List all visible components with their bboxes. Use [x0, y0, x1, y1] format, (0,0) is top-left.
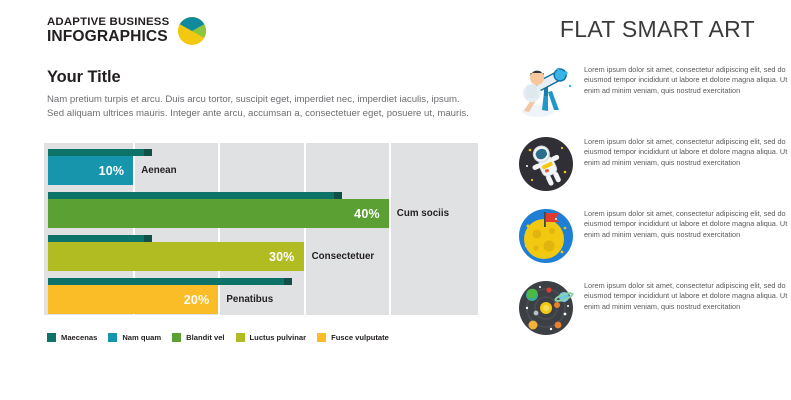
bar-track-cap — [144, 149, 152, 156]
legend-item[interactable]: Luctus pulvinar — [236, 333, 307, 342]
bar-category-label: Aenean — [133, 156, 176, 185]
bar-track-cap — [284, 278, 292, 285]
left-content-panel: ADAPTIVE BUSINESS INFOGRAPHICS Your Titl… — [0, 0, 500, 400]
solar-system-icon — [518, 280, 574, 336]
moon-flag-icon — [518, 208, 574, 264]
chart-bar[interactable]: 10% — [48, 156, 133, 185]
chart-legend: MaecenasNam quamBlandit velLuctus pulvin… — [47, 333, 487, 342]
chart-bar-row: 30%Consectetuer — [44, 231, 478, 274]
bar-value-label: 30% — [269, 250, 304, 264]
chart-bar[interactable]: 30% — [48, 242, 304, 271]
cube-pie-logo-icon — [177, 16, 207, 46]
brand-lockup: ADAPTIVE BUSINESS INFOGRAPHICS — [47, 16, 207, 46]
legend-swatch-icon — [108, 333, 117, 342]
feature-row: Lorem ipsum dolor sit amet, consectetur … — [518, 62, 791, 130]
legend-label: Maecenas — [61, 333, 97, 342]
legend-item[interactable]: Nam quam — [108, 333, 161, 342]
bar-value-label: 40% — [354, 207, 389, 221]
right-content-panel: FLAT SMART ART Lorem ipsum dolor sit ame… — [500, 0, 791, 400]
bar-value-label: 10% — [99, 164, 134, 178]
intro-paragraph: Nam pretium turpis et arcu. Duis arcu to… — [47, 93, 479, 121]
astronaut-spacewalk-icon — [518, 136, 574, 192]
brand-line-2: INFOGRAPHICS — [47, 29, 169, 45]
chart-bar[interactable]: 20% — [48, 285, 218, 314]
feature-row: Lorem ipsum dolor sit amet, consectetur … — [518, 134, 791, 202]
astronomer-telescope-icon — [518, 64, 574, 120]
legend-item[interactable]: Fusce vulputate — [317, 333, 389, 342]
legend-label: Nam quam — [122, 333, 161, 342]
legend-swatch-icon — [317, 333, 326, 342]
bar-track-cap — [334, 192, 342, 199]
legend-swatch-icon — [172, 333, 181, 342]
page-title: Your Title — [47, 68, 121, 87]
legend-label: Fusce vulputate — [331, 333, 389, 342]
brand-text: ADAPTIVE BUSINESS INFOGRAPHICS — [47, 17, 169, 45]
bar-track-cap — [144, 235, 152, 242]
feature-text: Lorem ipsum dolor sit amet, consectetur … — [584, 62, 791, 96]
bar-track — [48, 149, 152, 156]
legend-item[interactable]: Maecenas — [47, 333, 97, 342]
right-heading: FLAT SMART ART — [560, 16, 755, 43]
legend-item[interactable]: Blandit vel — [172, 333, 224, 342]
legend-label: Blandit vel — [186, 333, 224, 342]
bar-track — [48, 235, 152, 242]
bar-category-label: Consectetuer — [304, 242, 375, 271]
bar-category-label: Cum sociis — [389, 199, 449, 228]
bar-track — [48, 278, 292, 285]
legend-label: Luctus pulvinar — [250, 333, 307, 342]
chart-bar-row: 40%Cum sociis — [44, 188, 478, 231]
feature-row: Lorem ipsum dolor sit amet, consectetur … — [518, 278, 791, 346]
legend-swatch-icon — [236, 333, 245, 342]
legend-swatch-icon — [47, 333, 56, 342]
chart-bar-row: 10%Aenean — [44, 145, 478, 188]
bar-category-label: Penatibus — [218, 285, 273, 314]
feature-row: Lorem ipsum dolor sit amet, consectetur … — [518, 206, 791, 274]
feature-text: Lorem ipsum dolor sit amet, consectetur … — [584, 134, 791, 168]
bar-track — [48, 192, 342, 199]
horizontal-bar-chart: 10%Aenean40%Cum sociis30%Consectetuer20%… — [44, 143, 478, 315]
chart-bar[interactable]: 40% — [48, 199, 389, 228]
chart-bar-row: 20%Penatibus — [44, 274, 478, 317]
feature-text: Lorem ipsum dolor sit amet, consectetur … — [584, 206, 791, 240]
feature-text: Lorem ipsum dolor sit amet, consectetur … — [584, 278, 791, 312]
bar-value-label: 20% — [184, 293, 219, 307]
